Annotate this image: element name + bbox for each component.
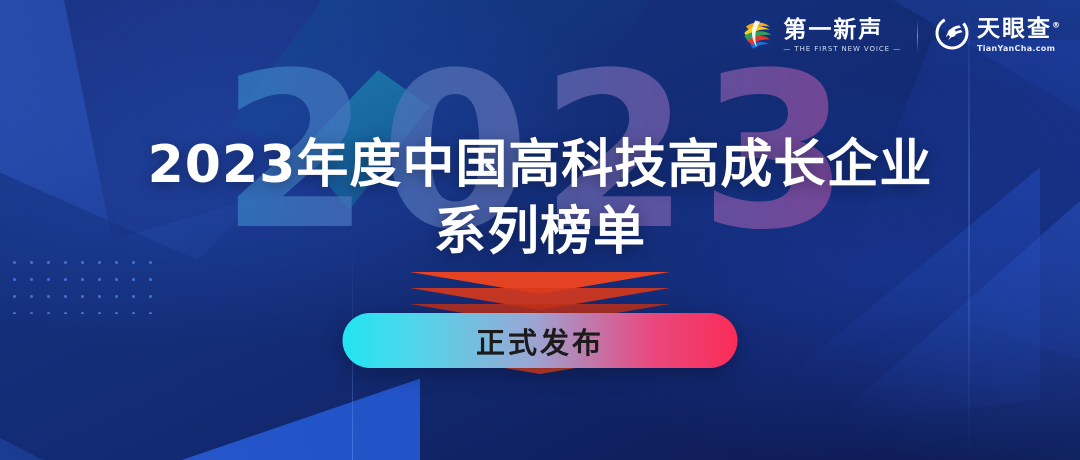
logo-tianyancha-name: 天眼查® [977,18,1062,41]
logo-diyixinsheng-text: 第一新声 — THE FIRST NEW VOICE — [783,19,901,53]
logo-diyixinsheng[interactable]: 第一新声 — THE FIRST NEW VOICE — [738,14,901,57]
logo-tianyancha-tagline: TianYanCha.com [977,45,1062,53]
logo-diyixinsheng-name: 第一新声 [783,19,901,42]
logo-tianyancha[interactable]: 天眼查® TianYanCha.com [934,15,1062,56]
logo-tianyancha-text: 天眼查® TianYanCha.com [977,18,1062,53]
headline-line-1: 2023年度中国高科技高成长企业 [148,135,933,195]
page-title: 2023年度中国高科技高成长企业 系列榜单 [0,132,1080,265]
trademark-symbol: ® [1052,20,1062,29]
poster-canvas: 2023 2023年度中国高科技高成长企业 系列榜单 正式发布 [0,0,1080,460]
release-badge-pill[interactable]: 正式发布 [343,313,738,368]
eye-logo-icon [934,15,970,56]
release-badge-label: 正式发布 [476,320,604,362]
release-badge[interactable]: 正式发布 [343,313,738,368]
swirl-logo-icon [738,14,776,57]
logo-divider [917,20,918,52]
logo-bar: 第一新声 — THE FIRST NEW VOICE — 天眼查® TianYa… [738,14,1062,57]
headline-line-2: 系列榜单 [0,199,1080,266]
logo-diyixinsheng-tagline: — THE FIRST NEW VOICE — [783,46,901,53]
